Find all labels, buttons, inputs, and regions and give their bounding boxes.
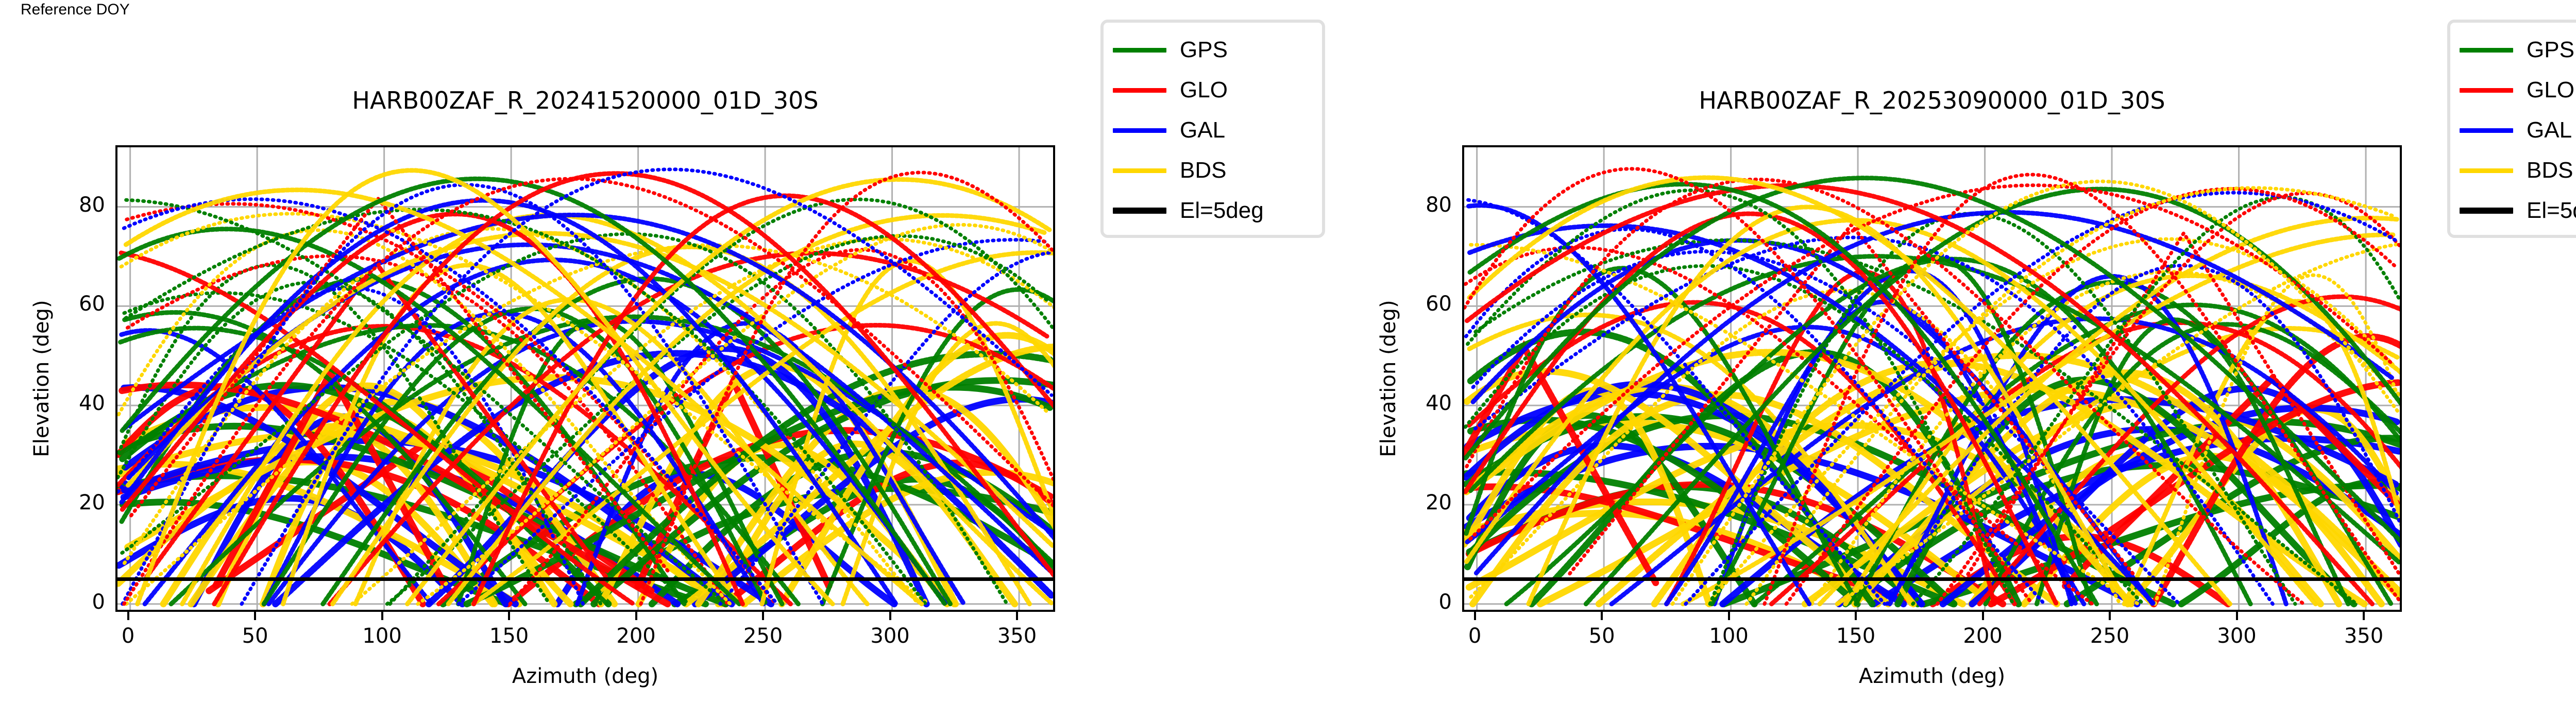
y-tick-label: 40 xyxy=(23,391,105,415)
x-tick-label: 150 xyxy=(468,624,550,648)
legend-color-swatch xyxy=(2460,88,2513,93)
x-tick-mark xyxy=(381,612,383,620)
legend-label: GAL xyxy=(1180,119,1225,142)
skyplot-svg xyxy=(117,147,1055,612)
y-tick-label: 60 xyxy=(1369,292,1452,316)
x-tick-mark xyxy=(1728,612,1730,620)
legend-color-swatch xyxy=(2460,208,2513,214)
legend-row[interactable]: BDS xyxy=(1113,150,1313,191)
legend-label: BDS xyxy=(1180,159,1226,182)
x-tick-label: 0 xyxy=(1434,624,1516,648)
legend-row[interactable]: El=5deg xyxy=(2460,191,2576,231)
satellite-arcs xyxy=(117,169,1055,604)
x-tick-mark xyxy=(1855,612,1857,620)
legend-color-swatch xyxy=(1113,128,1166,133)
x-tick-label: 200 xyxy=(1942,624,2024,648)
x-tick-mark xyxy=(635,612,637,620)
x-tick-mark xyxy=(762,612,764,620)
x-tick-mark xyxy=(127,612,129,620)
satellite-arcs xyxy=(1464,169,2402,604)
x-axis-label: Azimuth (deg) xyxy=(115,664,1055,688)
y-tick-label: 20 xyxy=(23,491,105,515)
legend-label: GAL xyxy=(2527,119,2572,142)
y-tick-label: 80 xyxy=(23,193,105,217)
x-axis-ticks: 050100150200250300350 xyxy=(115,612,1055,658)
x-tick-mark xyxy=(1982,612,1984,620)
legend-color-swatch xyxy=(2460,168,2513,173)
x-tick-label: 100 xyxy=(341,624,423,648)
legend-label: GPS xyxy=(2527,39,2574,61)
legend-row[interactable]: GPS xyxy=(2460,30,2576,70)
y-tick-label: 20 xyxy=(1369,491,1452,515)
x-tick-mark xyxy=(2236,612,2238,620)
legend-label: El=5deg xyxy=(2527,199,2576,222)
legend-color-swatch xyxy=(1113,168,1166,173)
x-tick-mark xyxy=(889,612,891,620)
x-axis-label: Azimuth (deg) xyxy=(1462,664,2402,688)
legend-color-swatch xyxy=(1113,208,1166,214)
y-axis-ticks: 020406080 xyxy=(14,145,105,612)
legend-row[interactable]: GLO xyxy=(2460,70,2576,110)
x-tick-mark xyxy=(2109,612,2111,620)
x-tick-label: 250 xyxy=(2069,624,2151,648)
legend-color-swatch xyxy=(2460,48,2513,53)
x-tick-label: 250 xyxy=(722,624,804,648)
legend-row[interactable]: BDS xyxy=(2460,150,2576,191)
y-tick-label: 0 xyxy=(1369,590,1452,614)
skyplot-panel-1: HARB00ZAF_R_20253090000_01D_30S Elevatio… xyxy=(1347,0,2576,720)
legend-row[interactable]: GAL xyxy=(1113,110,1313,150)
y-tick-label: 60 xyxy=(23,292,105,316)
legend-color-swatch xyxy=(1113,88,1166,93)
legend-row[interactable]: El=5deg xyxy=(1113,191,1313,231)
legend-label: GPS xyxy=(1180,39,1228,61)
skyplot-svg xyxy=(1464,147,2402,612)
plot-area xyxy=(1462,145,2402,612)
panel-title: HARB00ZAF_R_20253090000_01D_30S xyxy=(1462,87,2402,114)
legend-label: BDS xyxy=(2527,159,2573,182)
legend-label: GLO xyxy=(2527,79,2574,101)
legend-color-swatch xyxy=(1113,48,1166,53)
legend-row[interactable]: GAL xyxy=(2460,110,2576,150)
x-tick-label: 200 xyxy=(595,624,677,648)
x-tick-label: 300 xyxy=(2196,624,2278,648)
legend-row[interactable]: GLO xyxy=(1113,70,1313,110)
x-tick-label: 350 xyxy=(976,624,1058,648)
plot-area xyxy=(115,145,1055,612)
panel-title: HARB00ZAF_R_20241520000_01D_30S xyxy=(115,87,1055,114)
y-axis-ticks: 020406080 xyxy=(1361,145,1452,612)
legend-label: GLO xyxy=(1180,79,1228,101)
x-tick-mark xyxy=(2363,612,2365,620)
legend-color-swatch xyxy=(2460,128,2513,133)
y-tick-label: 0 xyxy=(23,590,105,614)
x-tick-label: 50 xyxy=(1561,624,1643,648)
legend: GPSGLOGALBDSEl=5deg xyxy=(1100,20,1325,238)
y-tick-label: 40 xyxy=(1369,391,1452,415)
y-tick-label: 80 xyxy=(1369,193,1452,217)
x-tick-mark xyxy=(1474,612,1476,620)
x-tick-label: 100 xyxy=(1688,624,1770,648)
x-tick-label: 0 xyxy=(87,624,170,648)
x-tick-label: 350 xyxy=(2323,624,2405,648)
legend-row[interactable]: GPS xyxy=(1113,30,1313,70)
x-tick-label: 300 xyxy=(849,624,931,648)
x-tick-mark xyxy=(508,612,510,620)
x-tick-label: 50 xyxy=(214,624,296,648)
x-axis-ticks: 050100150200250300350 xyxy=(1462,612,2402,658)
x-tick-label: 150 xyxy=(1815,624,1897,648)
legend: GPSGLOGALBDSEl=5deg xyxy=(2447,20,2576,238)
legend-label: El=5deg xyxy=(1180,199,1264,222)
x-tick-mark xyxy=(1601,612,1603,620)
x-tick-mark xyxy=(1016,612,1018,620)
x-tick-mark xyxy=(254,612,256,620)
